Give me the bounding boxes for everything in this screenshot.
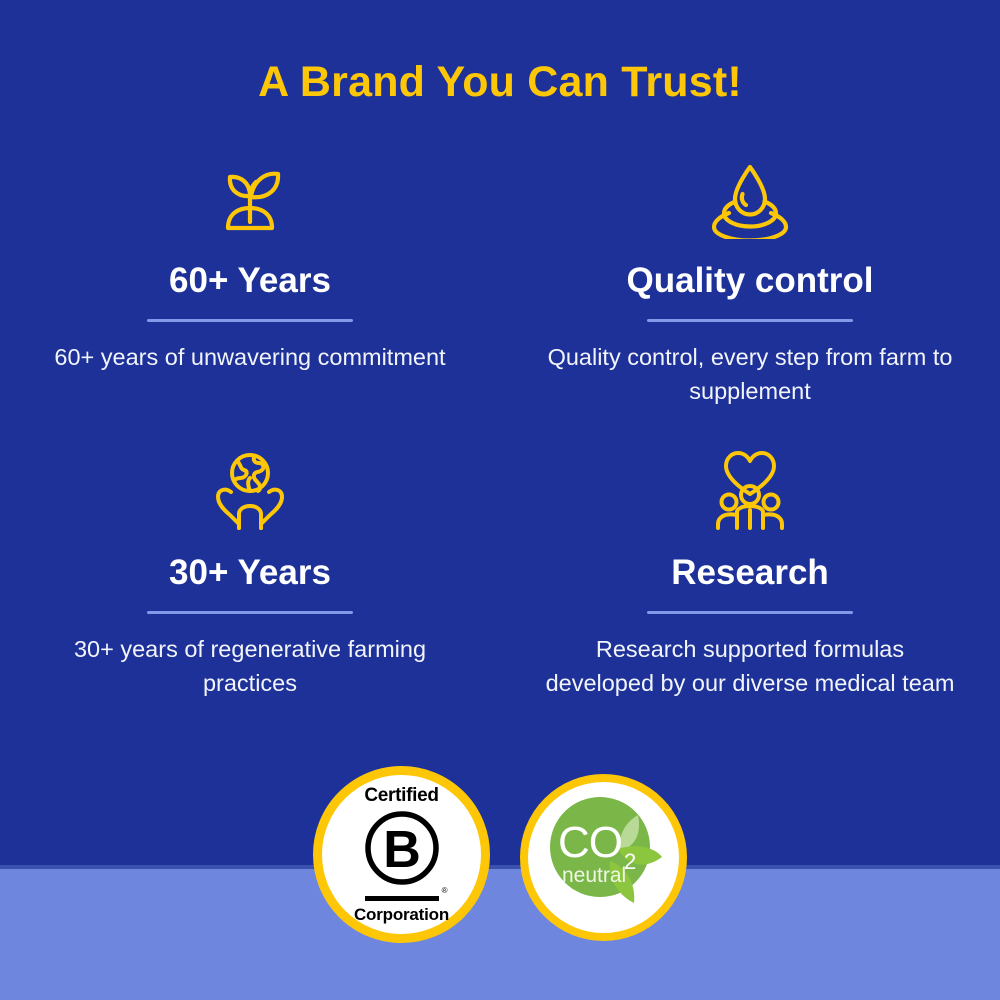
seedling-icon — [208, 150, 292, 246]
feature-row-1: 60+ Years 60+ years of unwavering commit… — [0, 150, 1000, 408]
feature-grid: 60+ Years 60+ years of unwavering commit… — [0, 150, 1000, 700]
b-corp-certification-badge: Certified B ® Corporation — [313, 766, 490, 943]
bcorp-rule: ® — [365, 896, 439, 901]
bcorp-b-mark: B — [364, 810, 440, 891]
feature-card-years-60: 60+ Years 60+ years of unwavering commit… — [0, 150, 500, 408]
feature-card-years-30: 30+ Years 30+ years of regenerative farm… — [0, 442, 500, 700]
feature-body: 30+ years of regenerative farming practi… — [40, 632, 460, 700]
feature-body: 60+ years of unwavering commitment — [40, 340, 460, 374]
feature-divider — [147, 611, 353, 614]
feature-card-quality-control: Quality control Quality control, every s… — [500, 150, 1000, 408]
co2-neutral-mark: CO 2 neutral — [532, 785, 676, 929]
svg-text:B: B — [383, 821, 421, 879]
water-drop-icon — [707, 150, 793, 246]
feature-card-research: Research Research supported formulas dev… — [500, 442, 1000, 700]
feature-heading: Quality control — [627, 260, 874, 302]
co2-neutral-badge: CO 2 neutral — [520, 774, 687, 941]
svg-text:CO: CO — [558, 818, 622, 867]
feature-divider — [147, 319, 353, 322]
page-title: A Brand You Can Trust! — [0, 56, 1000, 108]
feature-body: Research supported formulas developed by… — [540, 632, 960, 700]
feature-body: Quality control, every step from farm to… — [540, 340, 960, 408]
bcorp-certified-label: Certified — [364, 786, 438, 806]
feature-divider — [647, 611, 853, 614]
hands-holding-globe-icon — [207, 442, 293, 538]
feature-heading: 30+ Years — [169, 552, 331, 594]
trust-infographic: A Brand You Can Trust! 60+ Years 60+ yea… — [0, 0, 1000, 1000]
registered-mark-icon: ® — [442, 887, 448, 895]
feature-heading: 60+ Years — [169, 260, 331, 302]
feature-row-2: 30+ Years 30+ years of regenerative farm… — [0, 442, 1000, 700]
certification-badges: Certified B ® Corporation — [0, 766, 1000, 943]
svg-text:neutral: neutral — [562, 864, 626, 887]
people-heart-icon — [704, 442, 796, 538]
feature-heading: Research — [671, 552, 829, 594]
feature-divider — [647, 319, 853, 322]
bcorp-corporation-label: Corporation — [354, 906, 449, 924]
